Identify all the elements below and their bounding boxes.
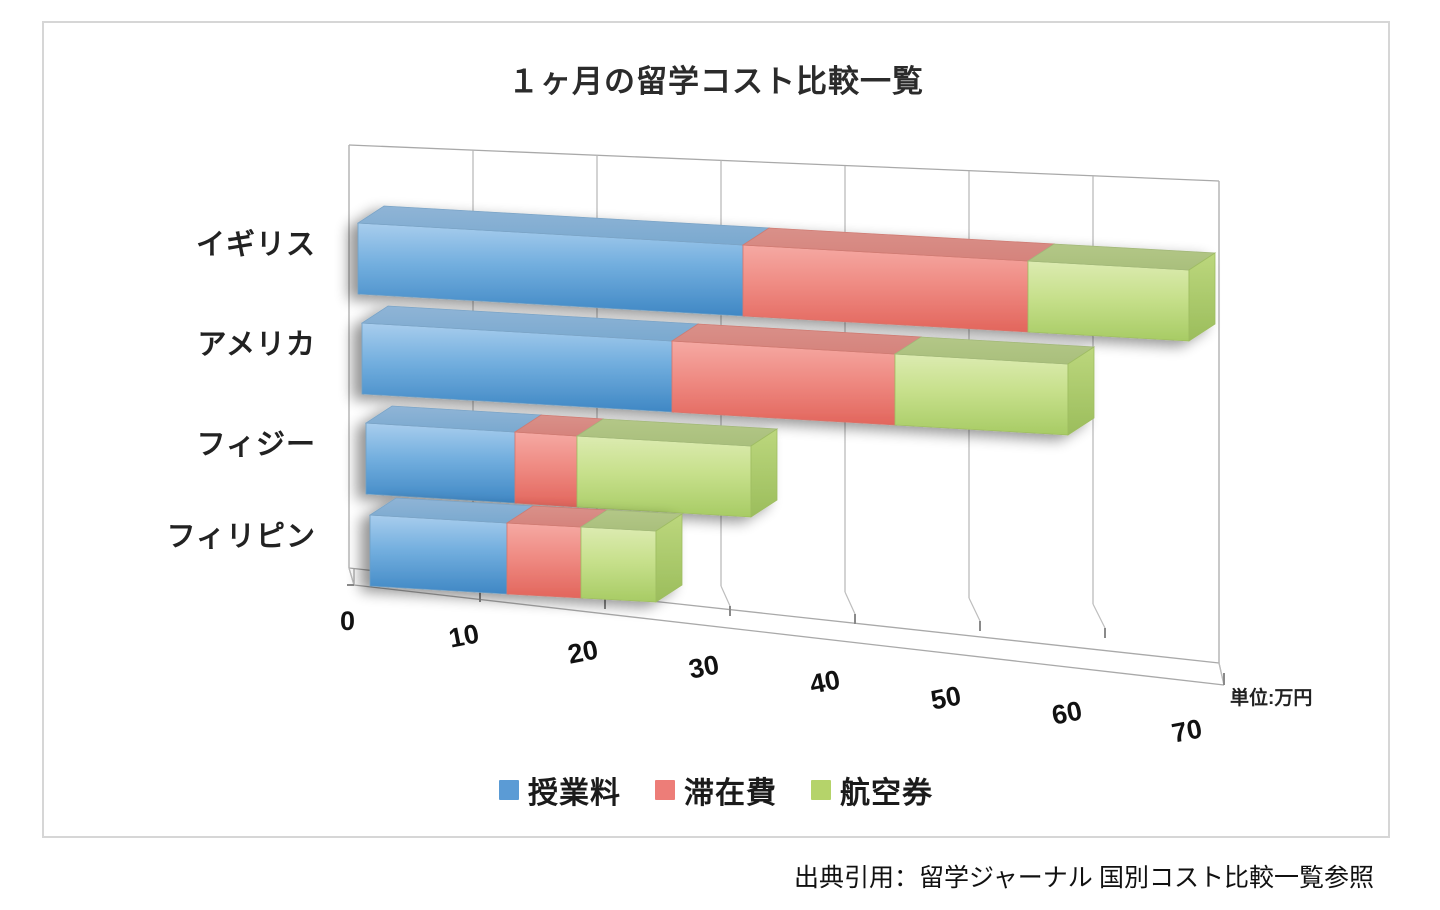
bar-segment-philippines-tuition xyxy=(370,515,507,594)
bar-segment-uk-airfare xyxy=(1028,261,1189,341)
legend-item-airfare[interactable]: 航空券 xyxy=(811,768,933,812)
legend-item-tuition[interactable]: 授業料 xyxy=(499,768,621,812)
axis-tick-label-60: 60 xyxy=(1049,695,1084,731)
axis-tick-label-10: 10 xyxy=(446,618,481,654)
bar-segment-usa-airfare xyxy=(895,354,1068,435)
legend-swatch-living xyxy=(655,780,675,800)
footer-citation: 出典引用：留学ジャーナル 国別コスト比較一覧参照 xyxy=(794,858,1374,894)
axis-category-label-usa: アメリカ xyxy=(86,321,316,363)
legend-swatch-airfare xyxy=(811,780,831,800)
legend-label-tuition: 授業料 xyxy=(528,768,621,812)
axis-category-label-philippines: フィリピン xyxy=(86,513,316,555)
axis-category-label-uk: イギリス xyxy=(86,221,316,263)
chart-frame: １ヶ月の留学コスト比較一覧 xyxy=(42,21,1390,838)
axis-tick-label-50: 50 xyxy=(928,680,963,716)
axis-category-label-fiji: フィジー xyxy=(86,421,316,463)
bar-segment-philippines-living xyxy=(507,523,581,598)
bar-segment-fiji-living xyxy=(515,432,577,507)
axis-unit-label: 単位:万円 xyxy=(1230,683,1312,710)
axis-tick-label-20: 20 xyxy=(565,634,600,670)
bar-segment-fiji-tuition xyxy=(366,423,515,503)
axis-tick-label-70: 70 xyxy=(1169,713,1204,749)
legend-item-living[interactable]: 滞在費 xyxy=(655,768,777,812)
axis-tick-label-40: 40 xyxy=(807,664,842,700)
legend-label-living: 滞在費 xyxy=(684,768,777,812)
bar-segment-philippines-airfare xyxy=(581,527,656,602)
legend-swatch-tuition xyxy=(499,780,519,800)
bar-segment-fiji-airfare xyxy=(577,436,751,517)
chart-legend: 授業料 滞在費 航空券 xyxy=(44,768,1388,812)
legend-label-airfare: 航空券 xyxy=(840,768,933,812)
axis-tick-label-30: 30 xyxy=(686,649,721,685)
bar-group-philippines xyxy=(370,498,682,602)
bar-segment-usa-living xyxy=(672,341,895,425)
axis-tick-label-0: 0 xyxy=(340,606,355,637)
